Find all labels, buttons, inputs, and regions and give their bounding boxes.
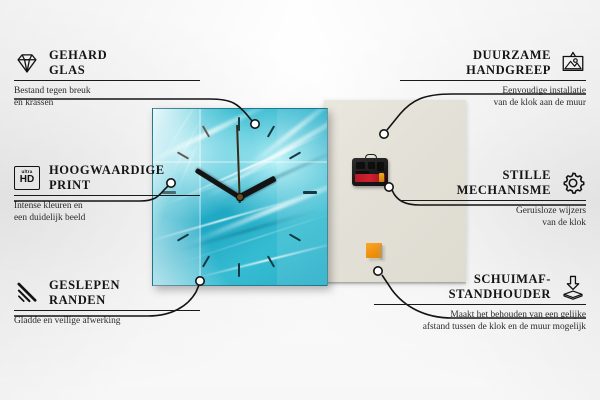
callout-duurzame-handgreep[interactable]: DUURZAMEHANDGREEP Eenvoudige installatie… bbox=[396, 48, 586, 109]
callout-divider bbox=[14, 80, 200, 81]
beveled-edges-icon bbox=[14, 280, 40, 306]
callout-title: STILLEMECHANISME bbox=[457, 168, 551, 197]
callout-subtitle: Bestand tegen breuken krassen bbox=[14, 85, 204, 109]
callout-header: ultra HD HOOGWAARDIGEPRINT bbox=[14, 163, 204, 192]
callout-title: SCHUIMAF-STANDHOUDER bbox=[449, 272, 551, 301]
callout-geslepen-randen[interactable]: GESLEPENRANDEN Gladde en veilige afwerki… bbox=[14, 278, 204, 327]
hour-tick bbox=[238, 263, 240, 277]
diamond-icon bbox=[14, 50, 40, 76]
callout-subtitle: Intense kleuren eneen duidelijk beeld bbox=[14, 200, 204, 224]
hour-tick bbox=[303, 191, 317, 194]
mechanism-slot bbox=[356, 162, 365, 169]
callout-title: HOOGWAARDIGEPRINT bbox=[49, 163, 165, 192]
callout-divider bbox=[14, 195, 200, 196]
callout-divider bbox=[400, 80, 586, 81]
callout-subtitle: Maakt het behouden van een gelijkeafstan… bbox=[370, 309, 586, 333]
picture-frame-icon bbox=[560, 50, 586, 76]
mechanism-slot bbox=[368, 162, 375, 169]
callout-divider bbox=[400, 200, 586, 201]
ultra-hd-icon: ultra HD bbox=[14, 166, 40, 190]
mechanism-slot bbox=[377, 162, 384, 171]
callout-header: SCHUIMAF-STANDHOUDER bbox=[370, 272, 586, 301]
callout-divider bbox=[14, 310, 200, 311]
callout-stille-mechanisme[interactable]: STILLEMECHANISME Geruisloze wijzersvan d… bbox=[396, 168, 586, 229]
callout-header: GESLEPENRANDEN bbox=[14, 278, 204, 307]
callout-gehard-glas[interactable]: GEHARDGLAS Bestand tegen breuken krassen bbox=[14, 48, 204, 109]
callout-divider bbox=[374, 304, 586, 305]
battery-terminal bbox=[379, 173, 384, 182]
callout-header: DUURZAMEHANDGREEP bbox=[396, 48, 586, 77]
gear-icon bbox=[560, 170, 586, 196]
callout-title: DUURZAMEHANDGREEP bbox=[466, 48, 551, 77]
callout-hoogwaardige-print[interactable]: ultra HD HOOGWAARDIGEPRINT Intense kleur… bbox=[14, 163, 204, 224]
clock-mechanism bbox=[352, 154, 388, 186]
callout-schuimaf-standhouder[interactable]: SCHUIMAF-STANDHOUDER Maakt het behouden … bbox=[370, 272, 586, 333]
callout-header: STILLEMECHANISME bbox=[396, 168, 586, 197]
callout-header: GEHARDGLAS bbox=[14, 48, 204, 77]
callout-title: GEHARDGLAS bbox=[49, 48, 107, 77]
hour-tick bbox=[238, 117, 240, 131]
clock-pivot bbox=[237, 194, 243, 200]
callout-subtitle: Gladde en veilige afwerking bbox=[14, 315, 204, 327]
glass-pane-highlight bbox=[277, 109, 327, 285]
callout-subtitle: Eenvoudige installatievan de klok aan de… bbox=[396, 85, 586, 109]
callout-subtitle: Geruisloze wijzersvan de klok bbox=[396, 205, 586, 229]
infographic-canvas: GEHARDGLAS Bestand tegen breuken krassen… bbox=[0, 0, 600, 400]
press-pad-icon bbox=[560, 274, 586, 300]
callout-title: GESLEPENRANDEN bbox=[49, 278, 120, 307]
foam-spacer-pad bbox=[366, 243, 382, 258]
